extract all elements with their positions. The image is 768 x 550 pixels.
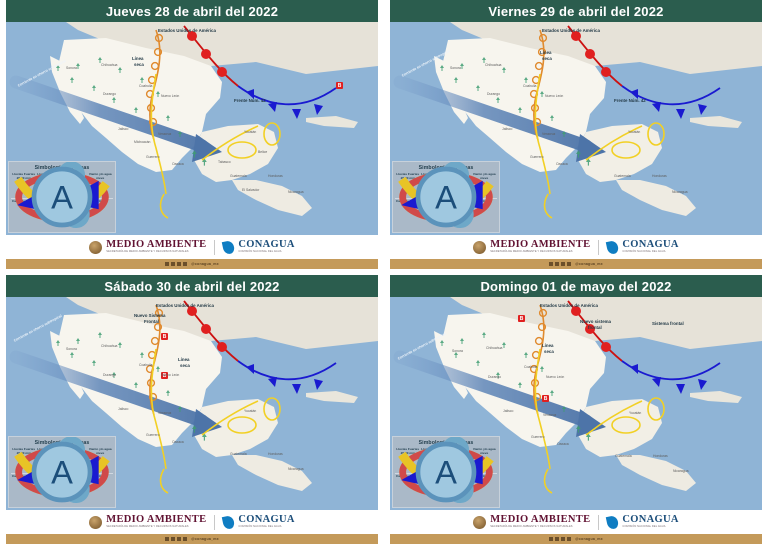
state-label: Yucatán [628, 130, 640, 134]
brand-divider [598, 240, 599, 255]
low-pressure-marker: B [542, 395, 549, 402]
state-label: Belice [258, 150, 267, 154]
water-drop-icon [222, 239, 235, 254]
instagram-icon[interactable] [177, 262, 181, 266]
brand-bar: MEDIO AMBIENTE SECRETARÍA DE MEDIO AMBIE… [6, 235, 378, 259]
brand-divider [598, 515, 599, 530]
youtube-icon[interactable] [183, 262, 187, 266]
legend-row-systems: Canal de baja presión Sistema frontal [11, 473, 113, 499]
state-label: Chihuahua [101, 63, 117, 67]
twitter-icon[interactable] [171, 537, 175, 541]
state-label: Jalisco [502, 127, 512, 131]
panel-title: Jueves 28 de abril del 2022 [106, 4, 278, 19]
state-label: Guatemala [230, 174, 247, 178]
panel-thursday[interactable]: Jueves 28 de abril del 2022 [0, 0, 384, 275]
map-label: Estados Unidos de América [540, 303, 598, 308]
legend-row-systems: Canal de baja presión Sistema frontal [395, 198, 497, 224]
state-label: El Salvador [242, 188, 259, 192]
state-label: Sonora [66, 66, 77, 70]
legend-box[interactable]: Simbología por áreas Lluvias Fuertes 20-… [8, 436, 116, 508]
low-pressure-marker: B [336, 82, 343, 89]
state-label: Sonora [66, 347, 77, 351]
state-label: Yucatán [244, 409, 256, 413]
conagua-brand: CONAGUA COMISIÓN NACIONAL DEL AGUA [607, 240, 678, 254]
state-label: Guatemala [230, 452, 247, 456]
map-label: Sistema frontal [652, 321, 684, 326]
medio-ambiente-brand: MEDIO AMBIENTE SECRETARÍA DE MEDIO AMBIE… [473, 515, 590, 529]
state-label: Chihuahua [101, 344, 117, 348]
brand-primary-label: MEDIO AMBIENTE [106, 240, 206, 251]
state-label: Veracruz [542, 132, 555, 136]
svg-text:A: A [435, 179, 457, 216]
map-label: seca [544, 349, 554, 354]
panel-saturday[interactable]: Sábado 30 de abril del 2022 [0, 275, 384, 550]
state-label: Michoacán [134, 140, 150, 144]
brand-primary-label: MEDIO AMBIENTE [106, 515, 206, 526]
svg-text:A: A [51, 454, 73, 491]
state-label: Veracruz [543, 413, 556, 417]
map-label: Frontal [144, 319, 159, 324]
social-handle: @conagua_mx [191, 262, 219, 266]
map-label: Nuevo Sistema [134, 313, 165, 318]
twitter-icon[interactable] [555, 262, 559, 266]
map-label: Nuevo sistema [580, 319, 611, 324]
twitter-icon[interactable] [555, 537, 559, 541]
state-label: Honduras [268, 452, 283, 456]
panel-header: Sábado 30 de abril del 2022 [6, 275, 378, 297]
state-label: Guerrero [146, 433, 160, 437]
youtube-icon[interactable] [567, 262, 571, 266]
state-label: Veracruz [158, 132, 171, 136]
state-label: Nuevo León [545, 94, 563, 98]
legend-box[interactable]: Simbología por áreas Lluvias Fuertes 20-… [392, 161, 500, 233]
state-label: Jalisco [118, 407, 128, 411]
instagram-icon[interactable] [561, 262, 565, 266]
state-label: Nuevo León [161, 94, 179, 98]
state-label: Sonora [450, 66, 461, 70]
map-label: Línea [540, 50, 551, 55]
brand-divider [214, 240, 215, 255]
map-label: frontal [588, 325, 602, 330]
state-label: Guerrero [146, 155, 160, 159]
state-label: Jalisco [118, 127, 128, 131]
brand-secondary-label: CONAGUA [238, 240, 294, 251]
state-label: Nuevo León [161, 373, 179, 377]
facebook-icon[interactable] [549, 537, 553, 541]
state-label: Oaxaca [172, 162, 184, 166]
state-label: Durango [488, 375, 501, 379]
state-label: Guatemala [614, 174, 631, 178]
state-label: Nicaragua [672, 190, 687, 194]
panel-sunday[interactable]: Domingo 01 de mayo del 2022 [384, 275, 768, 550]
conagua-brand: CONAGUA COMISIÓN NACIONAL DEL AGUA [223, 240, 294, 254]
social-bar[interactable]: @conagua_mx [390, 259, 762, 269]
state-label: Sonora [452, 349, 463, 353]
state-label: Guatemala [615, 454, 632, 458]
state-label: Coahuila [139, 363, 152, 367]
map-label: Estados Unidos de América [542, 28, 600, 33]
state-label: Durango [103, 373, 116, 377]
twitter-icon[interactable] [171, 262, 175, 266]
brand-secondary-label: CONAGUA [622, 515, 678, 526]
national-seal-icon [473, 241, 486, 254]
legend-box[interactable]: Simbología por áreas Lluvias Fuertes 20-… [392, 436, 500, 508]
brand-secondary-label: CONAGUA [622, 240, 678, 251]
brand-secondary-sublabel: COMISIÓN NACIONAL DEL AGUA [238, 526, 294, 529]
low-pressure-marker: B [518, 315, 525, 322]
state-label: Nuevo León [546, 375, 564, 379]
state-label: Nicaragua [673, 469, 688, 473]
legend-item[interactable]: Anticiclón A [464, 200, 497, 224]
state-label: Chihuahua [486, 346, 502, 350]
legend-row-systems: Canal de baja presión Sistema frontal [395, 473, 497, 499]
social-handle: @conagua_mx [191, 537, 219, 541]
conagua-brand: CONAGUA COMISIÓN NACIONAL DEL AGUA [607, 515, 678, 529]
brand-primary-sublabel: SECRETARÍA DE MEDIO AMBIENTE Y RECURSOS … [490, 526, 590, 529]
instagram-icon[interactable] [177, 537, 181, 541]
map-label: seca [542, 56, 552, 61]
state-label: Durango [487, 92, 500, 96]
panel-header: Domingo 01 de mayo del 2022 [390, 275, 762, 297]
panel-footer: MEDIO AMBIENTE SECRETARÍA DE MEDIO AMBIE… [6, 510, 378, 544]
social-handle: @conagua_mx [575, 262, 603, 266]
state-label: Oaxaca [172, 440, 184, 444]
brand-secondary-sublabel: COMISIÓN NACIONAL DEL AGUA [622, 251, 678, 254]
anticyclone-a-icon: A [80, 207, 113, 224]
panel-header: Viernes 29 de abril del 2022 [390, 0, 762, 22]
weather-map[interactable]: Estados Unidos de AméricaLíneasecaFrente… [390, 22, 762, 235]
map-label: Estados Unidos de América [156, 303, 214, 308]
brand-divider [214, 515, 215, 530]
brand-bar: MEDIO AMBIENTE SECRETARÍA DE MEDIO AMBIE… [390, 235, 762, 259]
map-label: Frente Núm. 42 [234, 98, 266, 103]
youtube-icon[interactable] [567, 537, 571, 541]
brand-bar: MEDIO AMBIENTE SECRETARÍA DE MEDIO AMBIE… [6, 510, 378, 534]
facebook-icon[interactable] [549, 262, 553, 266]
water-drop-icon [222, 514, 235, 529]
brand-secondary-label: CONAGUA [238, 515, 294, 526]
brand-primary-sublabel: SECRETARÍA DE MEDIO AMBIENTE Y RECURSOS … [106, 526, 206, 529]
medio-ambiente-brand: MEDIO AMBIENTE SECRETARÍA DE MEDIO AMBIE… [89, 240, 206, 254]
svg-text:A: A [51, 179, 73, 216]
map-label: seca [134, 62, 144, 67]
anticyclone-a-icon: A [464, 482, 497, 499]
map-label: Estados Unidos de América [158, 28, 216, 33]
social-bar[interactable]: @conagua_mx [390, 534, 762, 544]
legend-item[interactable]: Anticiclón A [80, 475, 113, 499]
map-label: Línea [542, 343, 553, 348]
forecast-map-grid: Jueves 28 de abril del 2022 [0, 0, 768, 550]
instagram-icon[interactable] [561, 537, 565, 541]
state-label: Yucatán [629, 411, 641, 415]
state-label: Honduras [652, 174, 667, 178]
map-label: Línea [178, 357, 189, 362]
map-label: seca [180, 363, 190, 368]
state-label: Coahuila [524, 365, 537, 369]
anticyclone-a-icon: A [80, 482, 113, 499]
panel-title: Viernes 29 de abril del 2022 [488, 4, 663, 19]
social-bar[interactable]: @conagua_mx [6, 259, 378, 269]
national-seal-icon [89, 241, 102, 254]
medio-ambiente-brand: MEDIO AMBIENTE SECRETARÍA DE MEDIO AMBIE… [89, 515, 206, 529]
panel-friday[interactable]: Viernes 29 de abril del 2022 [384, 0, 768, 275]
brand-primary-label: MEDIO AMBIENTE [490, 240, 590, 251]
weather-map[interactable]: Estados Unidos de AméricaNuevo sistemafr… [390, 297, 762, 510]
state-label: Durango [103, 92, 116, 96]
map-label: Frente Núm. 42 [614, 98, 646, 103]
panel-footer: MEDIO AMBIENTE SECRETARÍA DE MEDIO AMBIE… [390, 235, 762, 269]
panel-header: Jueves 28 de abril del 2022 [6, 0, 378, 22]
brand-primary-sublabel: SECRETARÍA DE MEDIO AMBIENTE Y RECURSOS … [490, 251, 590, 254]
state-label: Coahuila [523, 84, 536, 88]
legend-item[interactable]: Anticiclón A [80, 200, 113, 224]
legend-box[interactable]: Simbología por áreas Lluvias Fuertes 20-… [8, 161, 116, 233]
national-seal-icon [473, 516, 486, 529]
map-label: Línea [132, 56, 143, 61]
state-label: Nicaragua [288, 190, 303, 194]
weather-map[interactable]: Estados Unidos de AméricaNuevo SistemaFr… [6, 297, 378, 510]
facebook-icon[interactable] [165, 537, 169, 541]
state-label: Jalisco [503, 409, 513, 413]
panel-footer: MEDIO AMBIENTE SECRETARÍA DE MEDIO AMBIE… [390, 510, 762, 544]
brand-primary-sublabel: SECRETARÍA DE MEDIO AMBIENTE Y RECURSOS … [106, 251, 206, 254]
water-drop-icon [606, 514, 619, 529]
state-label: Guerrero [530, 155, 544, 159]
state-label: Yucatán [244, 130, 256, 134]
conagua-brand: CONAGUA COMISIÓN NACIONAL DEL AGUA [223, 515, 294, 529]
state-label: Oaxaca [557, 442, 569, 446]
legend-item[interactable]: Anticiclón A [464, 475, 497, 499]
brand-bar: MEDIO AMBIENTE SECRETARÍA DE MEDIO AMBIE… [390, 510, 762, 534]
state-label: Honduras [653, 454, 668, 458]
legend-row-systems: Canal de baja presión Sistema frontal [11, 198, 113, 224]
state-label: Nicaragua [288, 467, 303, 471]
medio-ambiente-brand: MEDIO AMBIENTE SECRETARÍA DE MEDIO AMBIE… [473, 240, 590, 254]
brand-secondary-sublabel: COMISIÓN NACIONAL DEL AGUA [622, 526, 678, 529]
panel-title: Sábado 30 de abril del 2022 [104, 279, 279, 294]
state-label: Chihuahua [485, 63, 501, 67]
brand-secondary-sublabel: COMISIÓN NACIONAL DEL AGUA [238, 251, 294, 254]
state-label: Oaxaca [556, 162, 568, 166]
social-bar[interactable]: @conagua_mx [6, 534, 378, 544]
water-drop-icon [606, 239, 619, 254]
anticyclone-a-icon: A [464, 207, 497, 224]
social-handle: @conagua_mx [575, 537, 603, 541]
state-label: Coahuila [139, 84, 152, 88]
facebook-icon[interactable] [165, 262, 169, 266]
youtube-icon[interactable] [183, 537, 187, 541]
brand-primary-label: MEDIO AMBIENTE [490, 515, 590, 526]
low-pressure-marker: B [161, 333, 168, 340]
state-label: Tabasco [218, 160, 231, 164]
panel-title: Domingo 01 de mayo del 2022 [480, 279, 671, 294]
state-label: Guerrero [531, 435, 545, 439]
svg-text:A: A [435, 454, 457, 491]
panel-footer: MEDIO AMBIENTE SECRETARÍA DE MEDIO AMBIE… [6, 235, 378, 269]
national-seal-icon [89, 516, 102, 529]
weather-map[interactable]: Estados Unidos de AméricaLíneasecaFrente… [6, 22, 378, 235]
state-label: Veracruz [158, 411, 171, 415]
state-label: Honduras [268, 174, 283, 178]
